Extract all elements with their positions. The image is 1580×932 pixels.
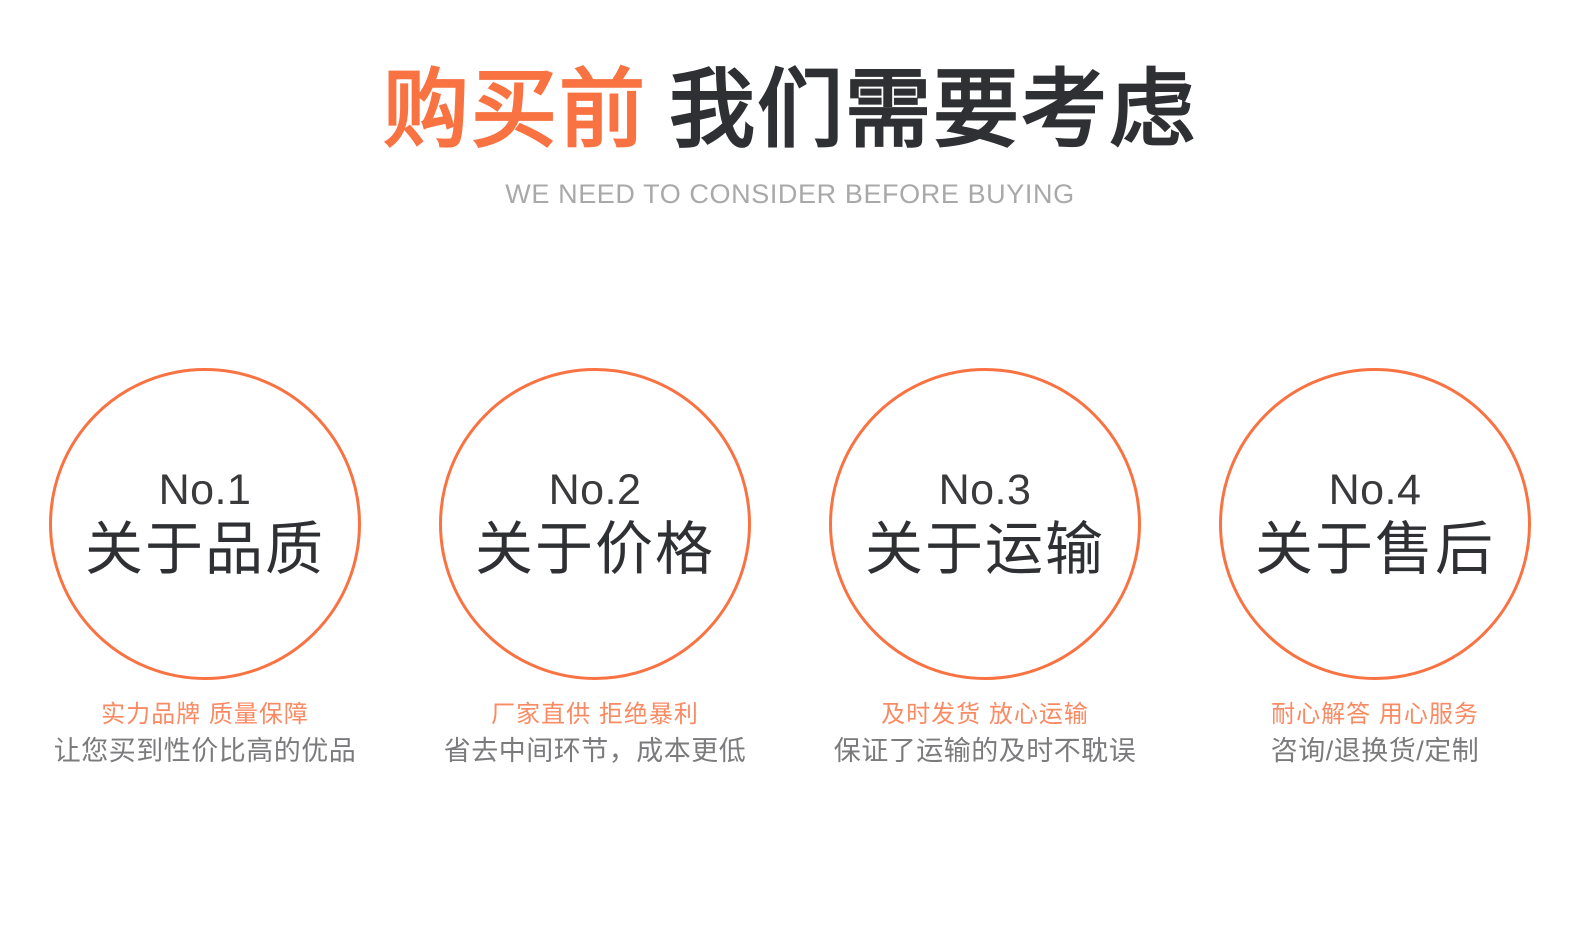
circle-badge-4: No.4 关于售后	[1219, 368, 1531, 680]
circle-badge-3: No.3 关于运输	[829, 368, 1141, 680]
circle-number-1: No.1	[159, 466, 252, 514]
circle-title-3: 关于运输	[865, 518, 1105, 582]
circle-badge-2: No.2 关于价格	[439, 368, 751, 680]
caption-note-4: 咨询/退换货/定制	[1195, 732, 1555, 770]
caption-note-1: 让您买到性价比高的优品	[25, 732, 385, 770]
caption-accent-4: 耐心解答 用心服务	[1195, 698, 1555, 732]
circle-title-2: 关于价格	[475, 518, 715, 582]
reason-card-list: No.1 关于品质 实力品牌 质量保障 让您买到性价比高的优品 No.2 关于价…	[0, 368, 1580, 770]
caption-note-3: 保证了运输的及时不耽误	[805, 732, 1165, 770]
card-caption-3: 及时发货 放心运输 保证了运输的及时不耽误	[805, 698, 1165, 770]
caption-accent-2: 厂家直供 拒绝暴利	[415, 698, 775, 732]
page-title-rest: 我们需要考虑	[669, 62, 1197, 158]
reason-card-3: No.3 关于运输 及时发货 放心运输 保证了运输的及时不耽误	[829, 368, 1141, 770]
circle-title-4: 关于售后	[1255, 518, 1495, 582]
caption-accent-1: 实力品牌 质量保障	[25, 698, 385, 732]
reason-card-4: No.4 关于售后 耐心解答 用心服务 咨询/退换货/定制	[1219, 368, 1531, 770]
circle-title-1: 关于品质	[85, 518, 325, 582]
page-title: 购买前我们需要考虑	[0, 58, 1580, 162]
circle-number-4: No.4	[1329, 466, 1422, 514]
reason-card-1: No.1 关于品质 实力品牌 质量保障 让您买到性价比高的优品	[49, 368, 361, 770]
card-caption-2: 厂家直供 拒绝暴利 省去中间环节，成本更低	[415, 698, 775, 770]
circle-badge-1: No.1 关于品质	[49, 368, 361, 680]
caption-note-2: 省去中间环节，成本更低	[415, 732, 775, 770]
card-caption-1: 实力品牌 质量保障 让您买到性价比高的优品	[25, 698, 385, 770]
page-title-accent: 购买前	[383, 62, 647, 158]
banner-header: 购买前我们需要考虑 WE NEED TO CONSIDER BEFORE BUY…	[0, 58, 1580, 210]
promo-banner: 购买前我们需要考虑 WE NEED TO CONSIDER BEFORE BUY…	[0, 0, 1580, 932]
circle-number-2: No.2	[549, 466, 642, 514]
card-caption-4: 耐心解答 用心服务 咨询/退换货/定制	[1195, 698, 1555, 770]
page-subtitle: WE NEED TO CONSIDER BEFORE BUYING	[0, 178, 1580, 210]
circle-number-3: No.3	[939, 466, 1032, 514]
caption-accent-3: 及时发货 放心运输	[805, 698, 1165, 732]
reason-card-2: No.2 关于价格 厂家直供 拒绝暴利 省去中间环节，成本更低	[439, 368, 751, 770]
